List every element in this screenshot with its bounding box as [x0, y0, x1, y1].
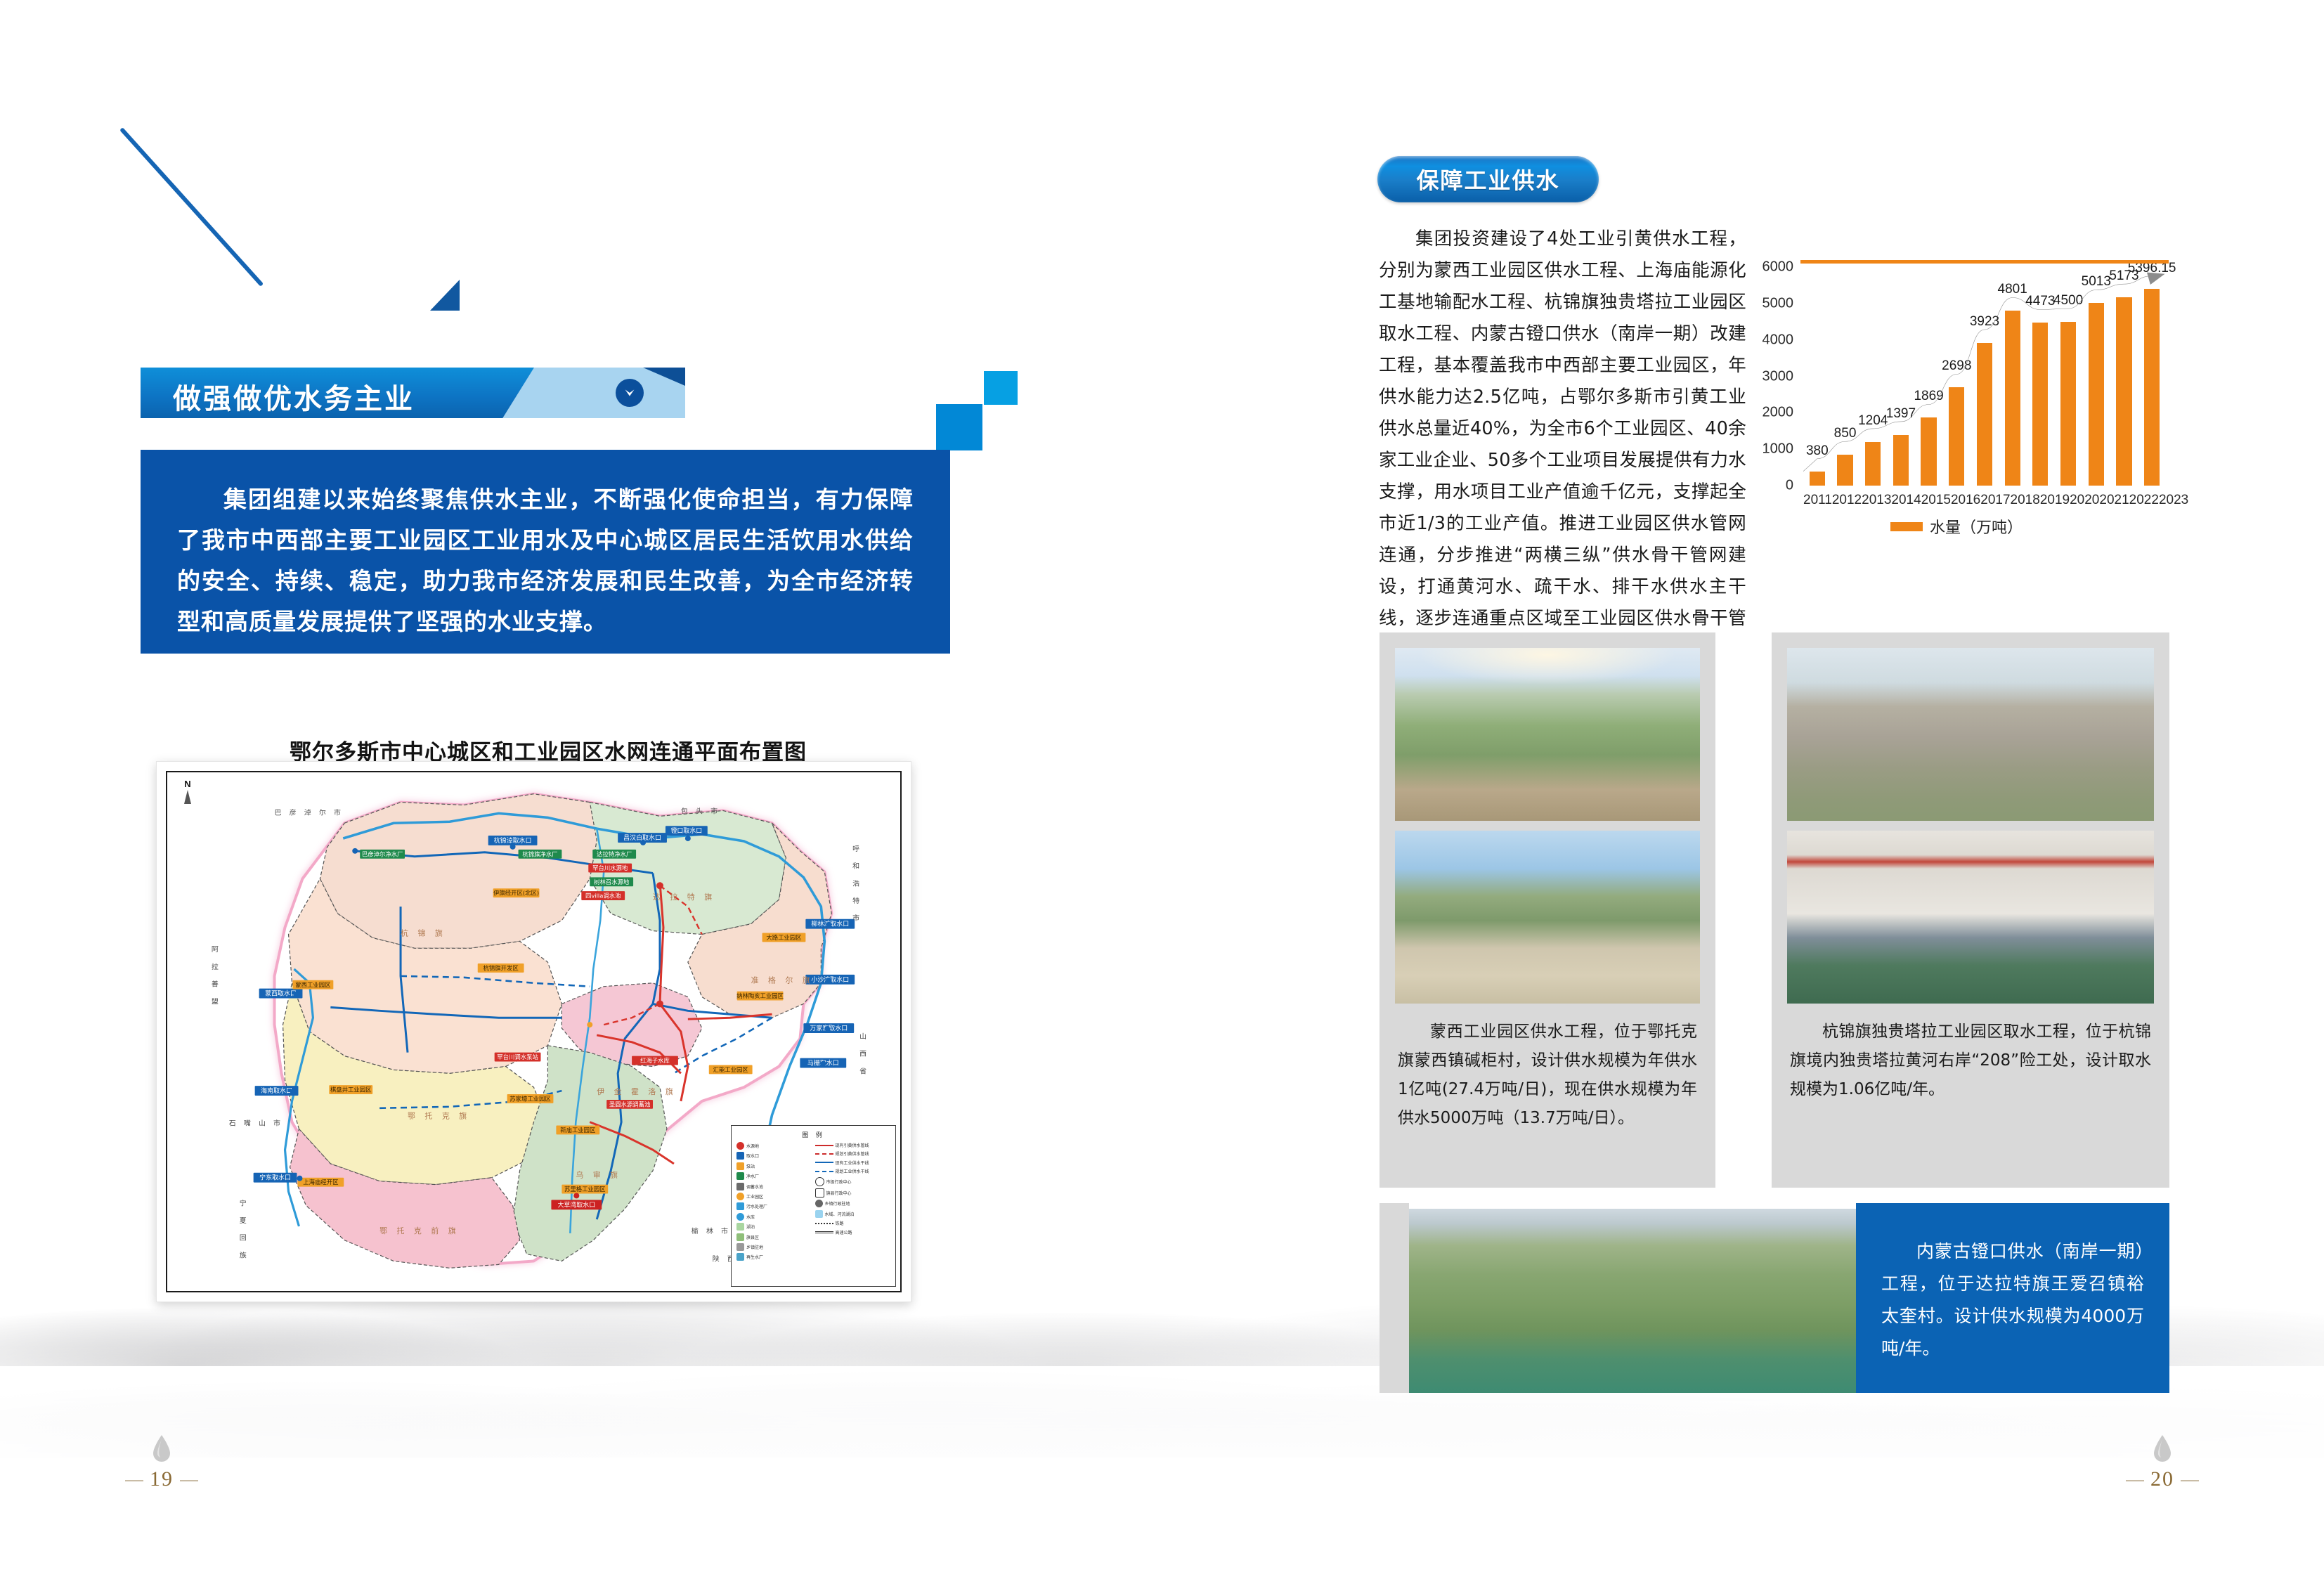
map-legend-symbol-column: 水源地 取水口 泵站 净水厂 调蓄水池 工业园区 污水处理厂 水库 湖泊 旗县区… [736, 1142, 812, 1264]
svg-text:杭锦淖取水口: 杭锦淖取水口 [494, 836, 532, 845]
svg-text:纳林陶亥工业园区: 纳林陶亥工业园区 [736, 992, 784, 999]
chart-bar-column [2027, 267, 2055, 486]
legend-item: 旗县区 [736, 1233, 812, 1241]
map-legend: 图 例 水源地 取水口 泵站 净水厂 调蓄水池 工业园区 污水处理厂 水库 湖泊 [731, 1125, 896, 1287]
chart-y-tick: 3000 [1763, 368, 1794, 384]
svg-text:杭锦旗开发区: 杭锦旗开发区 [483, 965, 519, 972]
svg-text:呼: 呼 [852, 845, 862, 853]
intro-callout-box: 集团组建以来始终聚焦供水主业，不断强化使命担当，有力保障了我市中西部主要工业园区… [141, 450, 950, 654]
city-center-icon [815, 1177, 824, 1186]
chart-bar [1893, 435, 1909, 486]
legend-item: 湖泊 [736, 1223, 812, 1231]
chart-x-tick: 2013 [1862, 493, 1891, 508]
chart-bars [1803, 267, 2166, 486]
chart-y-tick: 1000 [1763, 441, 1794, 457]
chart-bar-column [2054, 267, 2082, 486]
svg-text:石 嘴 山 市: 石 嘴 山 市 [229, 1119, 283, 1128]
chart-x-tick: 2019 [2040, 493, 2070, 508]
north-arrow-icon: N [177, 779, 198, 804]
chart-x-tick: 2020 [2070, 493, 2099, 508]
mengxi-plant-gate-photo [1395, 831, 1700, 1004]
svg-text:红海子水库: 红海子水库 [640, 1057, 670, 1064]
chart-bar [1810, 472, 1825, 486]
chart-x-tick: 2021 [2099, 493, 2129, 508]
chart-y-tick: 0 [1786, 478, 1793, 494]
legend-item: 泵站 [736, 1162, 812, 1170]
chart-bar [2032, 323, 2048, 486]
legend-item: 调蓄水池 [736, 1183, 812, 1190]
mengxi-industrial-park-aerial-photo [1395, 648, 1700, 821]
svg-text:四villa调水池: 四villa调水池 [585, 893, 621, 900]
legend-item: 现有引黄供水管线 [815, 1142, 891, 1148]
chart-bar-column [1915, 267, 1943, 486]
legend-item: 水源地 [736, 1142, 812, 1150]
svg-text:达 拉 特 旗: 达 拉 特 旗 [653, 892, 715, 902]
chart-bar [2060, 322, 2076, 486]
svg-text:新庙工业园区: 新庙工业园区 [560, 1127, 595, 1134]
chart-legend-label: 水量（万吨） [1930, 515, 2023, 538]
legend-item: 工业园区 [736, 1193, 812, 1200]
chart-x-tick: 2018 [2011, 493, 2040, 508]
wastewater-plant-icon [736, 1202, 744, 1210]
bottom-photo-band: 内蒙古镫口供水（南岸一期）工程，位于达拉特旗王爱召镇裕太奎村。设计供水规模为40… [1380, 1203, 2169, 1393]
legend-item: 水域、河流湖泊 [815, 1210, 891, 1218]
svg-text:回: 回 [240, 1234, 249, 1242]
chart-bar-column [2138, 267, 2166, 486]
map-legend-line-column: 现有引黄供水管线 规划引黄供水管线 现有工业供水干线 规划工业供水干线 市级行政… [815, 1142, 891, 1264]
svg-text:浩: 浩 [852, 879, 862, 888]
svg-text:市: 市 [852, 914, 862, 923]
svg-text:达拉特净水厂: 达拉特净水厂 [597, 850, 632, 857]
water-drop-icon [151, 1434, 172, 1463]
legend-item: 乡镇行政驻地 [815, 1200, 891, 1207]
pump-icon [736, 1162, 744, 1170]
svg-text:巴彦淖尔净水厂: 巴彦淖尔净水厂 [362, 850, 403, 857]
chart-legend-swatch [1890, 522, 1923, 531]
svg-text:棋盘井工业园区: 棋盘井工业园区 [330, 1086, 372, 1093]
chart-bar [1865, 442, 1881, 486]
legend-item: 污水处理厂 [736, 1202, 812, 1210]
water-supply-bar-chart: 0100020003000400050006000 38085012041397… [1741, 260, 2172, 538]
svg-text:榆 林 市: 榆 林 市 [692, 1226, 731, 1235]
hangjinqi-intake-channel-photo [1787, 648, 2154, 821]
svg-text:苏家壕工业园区: 苏家壕工业园区 [509, 1096, 551, 1103]
svg-text:伊旗经开区(北区): 伊旗经开区(北区) [493, 890, 539, 897]
township-seat-icon [815, 1200, 823, 1207]
county-center-icon [815, 1188, 824, 1198]
chart-bar [2144, 289, 2160, 486]
legend-item: 乡镇驻地 [736, 1243, 812, 1251]
chart-y-tick: 5000 [1763, 295, 1794, 311]
svg-text:拉: 拉 [212, 962, 221, 971]
chart-bar-column [1887, 267, 1915, 486]
decor-square-large [936, 404, 982, 450]
legend-item: 市级行政中心 [815, 1177, 891, 1186]
right-body-text: 集团投资建设了4处工业引黄供水工程，分别为蒙西工业园区供水工程、上海庙能源化工基… [1379, 223, 1746, 666]
chart-bar [1949, 387, 1964, 486]
svg-text:上海庙经开区: 上海庙经开区 [303, 1179, 338, 1186]
page-number-value-wrapper: 19 [91, 1467, 232, 1491]
intake-icon [736, 1152, 744, 1160]
legend-item: 高速公路 [815, 1229, 891, 1235]
page-number-dash-right [2181, 1480, 2199, 1481]
svg-text:苏里格工业园区: 苏里格工业园区 [564, 1186, 606, 1193]
page-number-right: 20 [2092, 1434, 2233, 1491]
chart-bar-column [2082, 267, 2110, 486]
reservoir-tank-icon [736, 1183, 744, 1190]
page-number-value: 19 [150, 1467, 174, 1491]
svg-text:大草湾取水口: 大草湾取水口 [557, 1200, 595, 1209]
page-number-dash-left [125, 1480, 143, 1481]
existing-diversion-line-icon [815, 1145, 833, 1146]
legend-item: 旗县行政中心 [815, 1188, 891, 1198]
chart-bar-column [1971, 267, 1999, 486]
county-icon [736, 1233, 744, 1241]
chart-bar [1977, 343, 1992, 486]
waterworks-icon [736, 1172, 744, 1180]
legend-item: 现有工业供水干线 [815, 1160, 891, 1166]
svg-text:西: 西 [859, 1051, 869, 1058]
source-icon [736, 1142, 744, 1150]
svg-text:巴 彦 淖 尔 市: 巴 彦 淖 尔 市 [275, 807, 344, 817]
chart-y-tick: 2000 [1763, 405, 1794, 421]
legend-item: 规划引黄供水管线 [815, 1150, 891, 1157]
page-number-dash-right [180, 1480, 198, 1481]
chart-x-tick: 2022 [2129, 493, 2159, 508]
chart-plot-area [1803, 267, 2166, 486]
page-number-left: 19 [91, 1434, 232, 1491]
subsection-pill: 保障工业供水 [1377, 156, 1599, 202]
chart-bar [2116, 297, 2131, 486]
chart-x-axis: 2011201220132014201520162017201820192020… [1803, 493, 2166, 508]
waterbody-icon [815, 1210, 823, 1218]
chart-bar-column [1999, 267, 2027, 486]
svg-text:海南取水口: 海南取水口 [261, 1086, 292, 1095]
svg-text:盟: 盟 [212, 997, 221, 1006]
svg-text:准 格 尔 旗: 准 格 尔 旗 [751, 975, 814, 985]
svg-text:善: 善 [212, 980, 221, 989]
bottom-band-caption-box: 内蒙古镫口供水（南岸一期）工程，位于达拉特旗王爱召镇裕太奎村。设计供水规模为40… [1856, 1203, 2169, 1393]
planned-industrial-line-icon [815, 1171, 833, 1172]
svg-text:族: 族 [240, 1251, 249, 1260]
map-legend-title: 图 例 [736, 1130, 890, 1139]
lake-icon [736, 1223, 744, 1231]
svg-text:伊 金 霍 洛 旗: 伊 金 霍 洛 旗 [597, 1086, 677, 1096]
svg-text:特: 特 [852, 897, 862, 905]
subsection-title: 保障工业供水 [1416, 163, 1559, 195]
photo-card-caption: 蒙西工业园区供水工程，位于鄂托克旗蒙西镇碱柜村，设计供水规模为年供水1亿吨(27… [1395, 1004, 1700, 1133]
chart-x-tick: 2016 [1951, 493, 1980, 508]
bottom-band-caption: 内蒙古镫口供水（南岸一期）工程，位于达拉特旗王爱召镇裕太奎村。设计供水规模为40… [1881, 1235, 2144, 1365]
photo-card-hangjinqi: 杭锦旗独贵塔拉工业园区取水工程，位于杭锦旗境内独贵塔拉黄河右岸“208”险工处，… [1772, 632, 2169, 1188]
decor-diagonal-line [119, 127, 264, 287]
section-title: 做强做优水务主业 [173, 376, 415, 417]
legend-item: 取水口 [736, 1152, 812, 1160]
right-body-paragraph: 集团投资建设了4处工业引黄供水工程，分别为蒙西工业园区供水工程、上海庙能源化工基… [1379, 223, 1746, 666]
bottom-band-strip [1380, 1203, 1409, 1393]
section-banner: 做强做优水务主业 [141, 368, 685, 418]
industrial-park-icon [736, 1193, 744, 1200]
svg-text:和: 和 [852, 862, 862, 871]
svg-text:山: 山 [859, 1032, 869, 1041]
reservoir-icon [736, 1213, 744, 1221]
svg-text:杭锦旗净水厂: 杭锦旗净水厂 [522, 850, 557, 857]
page-number-value: 20 [2150, 1467, 2174, 1491]
highway-icon [815, 1231, 833, 1233]
railway-icon [815, 1223, 833, 1224]
chart-x-tick: 2012 [1832, 493, 1862, 508]
chart-baseline [1800, 260, 2169, 264]
chart-x-tick: 2023 [2159, 493, 2188, 508]
intro-paragraph: 集团组建以来始终聚焦供水主业，不断强化使命担当，有力保障了我市中西部主要工业园区… [177, 479, 914, 642]
svg-text:省: 省 [859, 1066, 869, 1075]
legend-item: 净水厂 [736, 1172, 812, 1180]
chart-x-tick: 2017 [1980, 493, 2010, 508]
page-number-value-wrapper: 20 [2092, 1467, 2233, 1491]
chart-bar-column [1831, 267, 1859, 486]
svg-text:宁东取水口: 宁东取水口 [259, 1174, 291, 1182]
recycled-water-plant-icon [736, 1253, 744, 1261]
north-arrow-shape [184, 790, 191, 804]
legend-item: 规划工业供水干线 [815, 1168, 891, 1174]
dengkou-water-plant-aerial-photo [1409, 1209, 1856, 1393]
township-icon [736, 1243, 744, 1251]
svg-text:乌 审 旗: 乌 审 旗 [576, 1170, 621, 1180]
svg-text:镫口取水口: 镫口取水口 [670, 826, 702, 835]
decor-triangle [430, 280, 460, 311]
chart-bar-column [2110, 267, 2138, 486]
water-drop-icon [2152, 1434, 2173, 1463]
svg-text:树林召水源地: 树林召水源地 [594, 878, 630, 885]
svg-text:鄂 托 克 前 旗: 鄂 托 克 前 旗 [379, 1226, 460, 1235]
svg-text:汇能工业园区: 汇能工业园区 [713, 1066, 748, 1073]
chart-x-tick: 2015 [1921, 493, 1951, 508]
svg-text:杭 锦 旗: 杭 锦 旗 [401, 928, 446, 938]
chevron-down-icon [616, 379, 644, 407]
svg-text:罕台川水源地: 罕台川水源地 [592, 864, 628, 871]
existing-industrial-line-icon [815, 1162, 833, 1163]
chart-bar-column [1859, 267, 1887, 486]
svg-text:阿: 阿 [212, 945, 221, 954]
chart-bar [2089, 303, 2104, 486]
svg-text:夏: 夏 [240, 1216, 249, 1225]
chart-x-tick: 2014 [1891, 493, 1921, 508]
chart-bar [1921, 417, 1936, 486]
map-figure: 蒙西取水口 海南取水口 杭锦淖取水口 [156, 761, 911, 1302]
brochure-spread: 做强做优水务主业 集团组建以来始终聚焦供水主业，不断强化使命担当，有力保障了我市… [0, 0, 2324, 1577]
chart-y-tick: 4000 [1763, 332, 1794, 348]
chart-y-tick: 6000 [1763, 259, 1794, 275]
chart-bar [2005, 311, 2020, 486]
svg-text:圣圆水源调蓄池: 圣圆水源调蓄池 [609, 1101, 651, 1108]
legend-item: 水库 [736, 1213, 812, 1221]
svg-text:宁: 宁 [240, 1198, 249, 1207]
photo-card-mengxi: 蒙西工业园区供水工程，位于鄂托克旗蒙西镇碱柜村，设计供水规模为年供水1亿吨(27… [1380, 632, 1715, 1188]
legend-item: 铁路 [815, 1220, 891, 1226]
decor-square-small [984, 371, 1018, 405]
chart-x-tick: 2011 [1803, 493, 1832, 508]
svg-text:包 头 市: 包 头 市 [681, 806, 720, 815]
hangjinqi-pump-house-interior-photo [1787, 831, 2154, 1004]
chart-y-axis: 0100020003000400050006000 [1741, 267, 1799, 486]
chart-bar-column [1942, 267, 1971, 486]
svg-text:蒙西工业园区: 蒙西工业园区 [295, 981, 330, 988]
page-number-dash-left [2126, 1480, 2144, 1481]
photo-card-caption: 杭锦旗独贵塔拉工业园区取水工程，位于杭锦旗境内独贵塔拉黄河右岸“208”险工处，… [1787, 1004, 2154, 1104]
chart-bar-column [1803, 267, 1831, 486]
legend-item: 再生水厂 [736, 1253, 812, 1261]
svg-text:罕台川调水泵站: 罕台川调水泵站 [497, 1053, 538, 1060]
planned-diversion-line-icon [815, 1153, 833, 1155]
svg-text:大路工业园区: 大路工业园区 [766, 934, 801, 941]
svg-text:鄂 托 克 旗: 鄂 托 克 旗 [408, 1111, 470, 1121]
map-frame-border: 蒙西取水口 海南取水口 杭锦淖取水口 [166, 771, 902, 1292]
svg-text:蒙西取水口: 蒙西取水口 [265, 989, 297, 998]
chart-bar [1837, 455, 1852, 486]
chart-legend: 水量（万吨） [1741, 515, 2172, 538]
